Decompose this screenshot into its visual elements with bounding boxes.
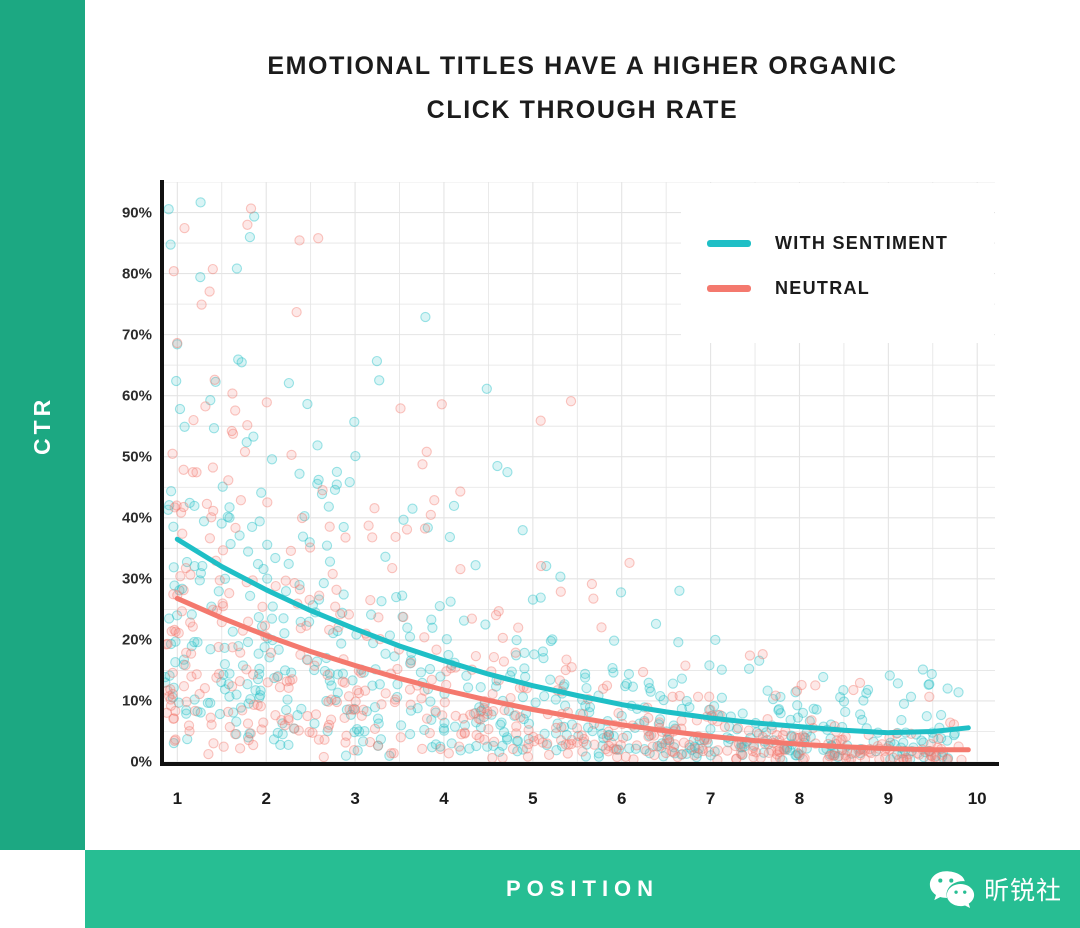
legend-item-neutral[interactable]: NEUTRAL bbox=[707, 278, 870, 299]
y-tick-label: 0% bbox=[92, 754, 152, 771]
y-tick-label: 10% bbox=[92, 692, 152, 709]
y-tick-label: 50% bbox=[92, 448, 152, 465]
brand-name: 昕锐社 bbox=[984, 871, 1062, 907]
title-line-2: CLICK THROUGH RATE bbox=[85, 88, 1080, 132]
x-tick-label: 3 bbox=[335, 789, 375, 809]
legend-item-with-sentiment[interactable]: WITH SENTIMENT bbox=[707, 233, 948, 254]
page-title: EMOTIONAL TITLES HAVE A HIGHER ORGANIC C… bbox=[85, 44, 1080, 132]
x-tick-label: 5 bbox=[513, 789, 553, 809]
x-tick-label: 8 bbox=[780, 789, 820, 809]
x-tick-label: 4 bbox=[424, 789, 464, 809]
legend-swatch-with-sentiment bbox=[707, 240, 751, 247]
y-tick-label: 70% bbox=[92, 326, 152, 343]
x-axis-ticks: 12345678910 bbox=[164, 789, 1009, 813]
x-tick-label: 7 bbox=[691, 789, 731, 809]
y-tick-label: 60% bbox=[92, 387, 152, 404]
x-tick-label: 1 bbox=[157, 789, 197, 809]
brand-block: 昕锐社 bbox=[929, 850, 1062, 928]
legend-label-with-sentiment: WITH SENTIMENT bbox=[775, 233, 948, 254]
legend-swatch-neutral bbox=[707, 285, 751, 292]
infographic-page: CTR EMOTIONAL TITLES HAVE A HIGHER ORGAN… bbox=[0, 0, 1080, 928]
title-line-1: EMOTIONAL TITLES HAVE A HIGHER ORGANIC bbox=[85, 44, 1080, 88]
legend-label-neutral: NEUTRAL bbox=[775, 278, 870, 299]
wechat-icon bbox=[929, 869, 975, 909]
y-axis-label: CTR bbox=[0, 0, 85, 850]
y-tick-label: 30% bbox=[92, 570, 152, 587]
y-tick-label: 20% bbox=[92, 631, 152, 648]
x-tick-label: 9 bbox=[868, 789, 908, 809]
y-tick-label: 90% bbox=[92, 204, 152, 221]
x-tick-label: 6 bbox=[602, 789, 642, 809]
chart-legend: WITH SENTIMENT NEUTRAL bbox=[681, 183, 994, 343]
x-axis-line bbox=[160, 762, 999, 766]
y-axis-line bbox=[160, 180, 164, 764]
y-tick-label: 40% bbox=[92, 509, 152, 526]
x-tick-label: 2 bbox=[246, 789, 286, 809]
y-tick-label: 80% bbox=[92, 265, 152, 282]
y-axis-label-band: CTR bbox=[0, 0, 85, 850]
x-axis-label-banner: POSITION 昕锐社 bbox=[85, 850, 1080, 928]
y-axis-ticks: 0%10%20%30%40%50%60%70%80%90% bbox=[90, 182, 152, 762]
x-tick-label: 10 bbox=[957, 789, 997, 809]
